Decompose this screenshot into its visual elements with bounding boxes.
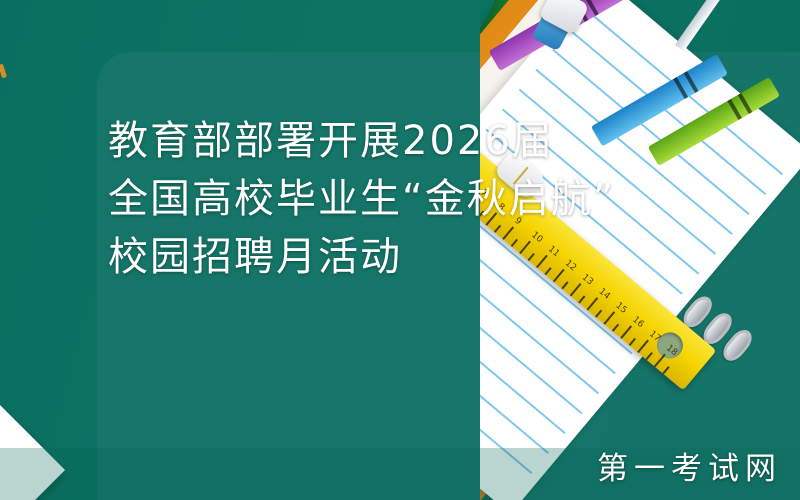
ruler-tick	[578, 295, 585, 303]
paper-rule-line	[480, 268, 566, 434]
ruler-tick-label: 15	[613, 301, 628, 316]
headline: 教育部部署开展2026届 全国高校毕业生“金秋启航” 校园招聘月活动	[108, 112, 708, 286]
pen-icon	[675, 0, 724, 51]
headline-line-1: 教育部部署开展2026届	[108, 112, 708, 170]
headline-line-2: 全国高校毕业生“金秋启航”	[108, 170, 708, 228]
ruler-tick	[595, 310, 602, 318]
news-banner: 56789101112131415161718 教育部部署开展2026届 全国高…	[0, 0, 800, 500]
ruler-tick	[629, 338, 636, 346]
headline-line-3: 校园招聘月活动	[108, 228, 708, 286]
ruler-tick	[662, 366, 669, 374]
ruler-tick	[587, 297, 599, 311]
ruler-tick	[637, 340, 649, 354]
site-watermark: 第一考试网	[597, 443, 782, 488]
ruler-tick	[612, 324, 619, 332]
ruler-tick-label: 16	[630, 315, 645, 330]
ruler-tick	[603, 311, 615, 325]
ruler-tick	[654, 354, 666, 368]
ruler-tick	[620, 325, 632, 339]
ruler-tick	[645, 352, 652, 360]
ruler-tick-label: 14	[597, 287, 612, 302]
